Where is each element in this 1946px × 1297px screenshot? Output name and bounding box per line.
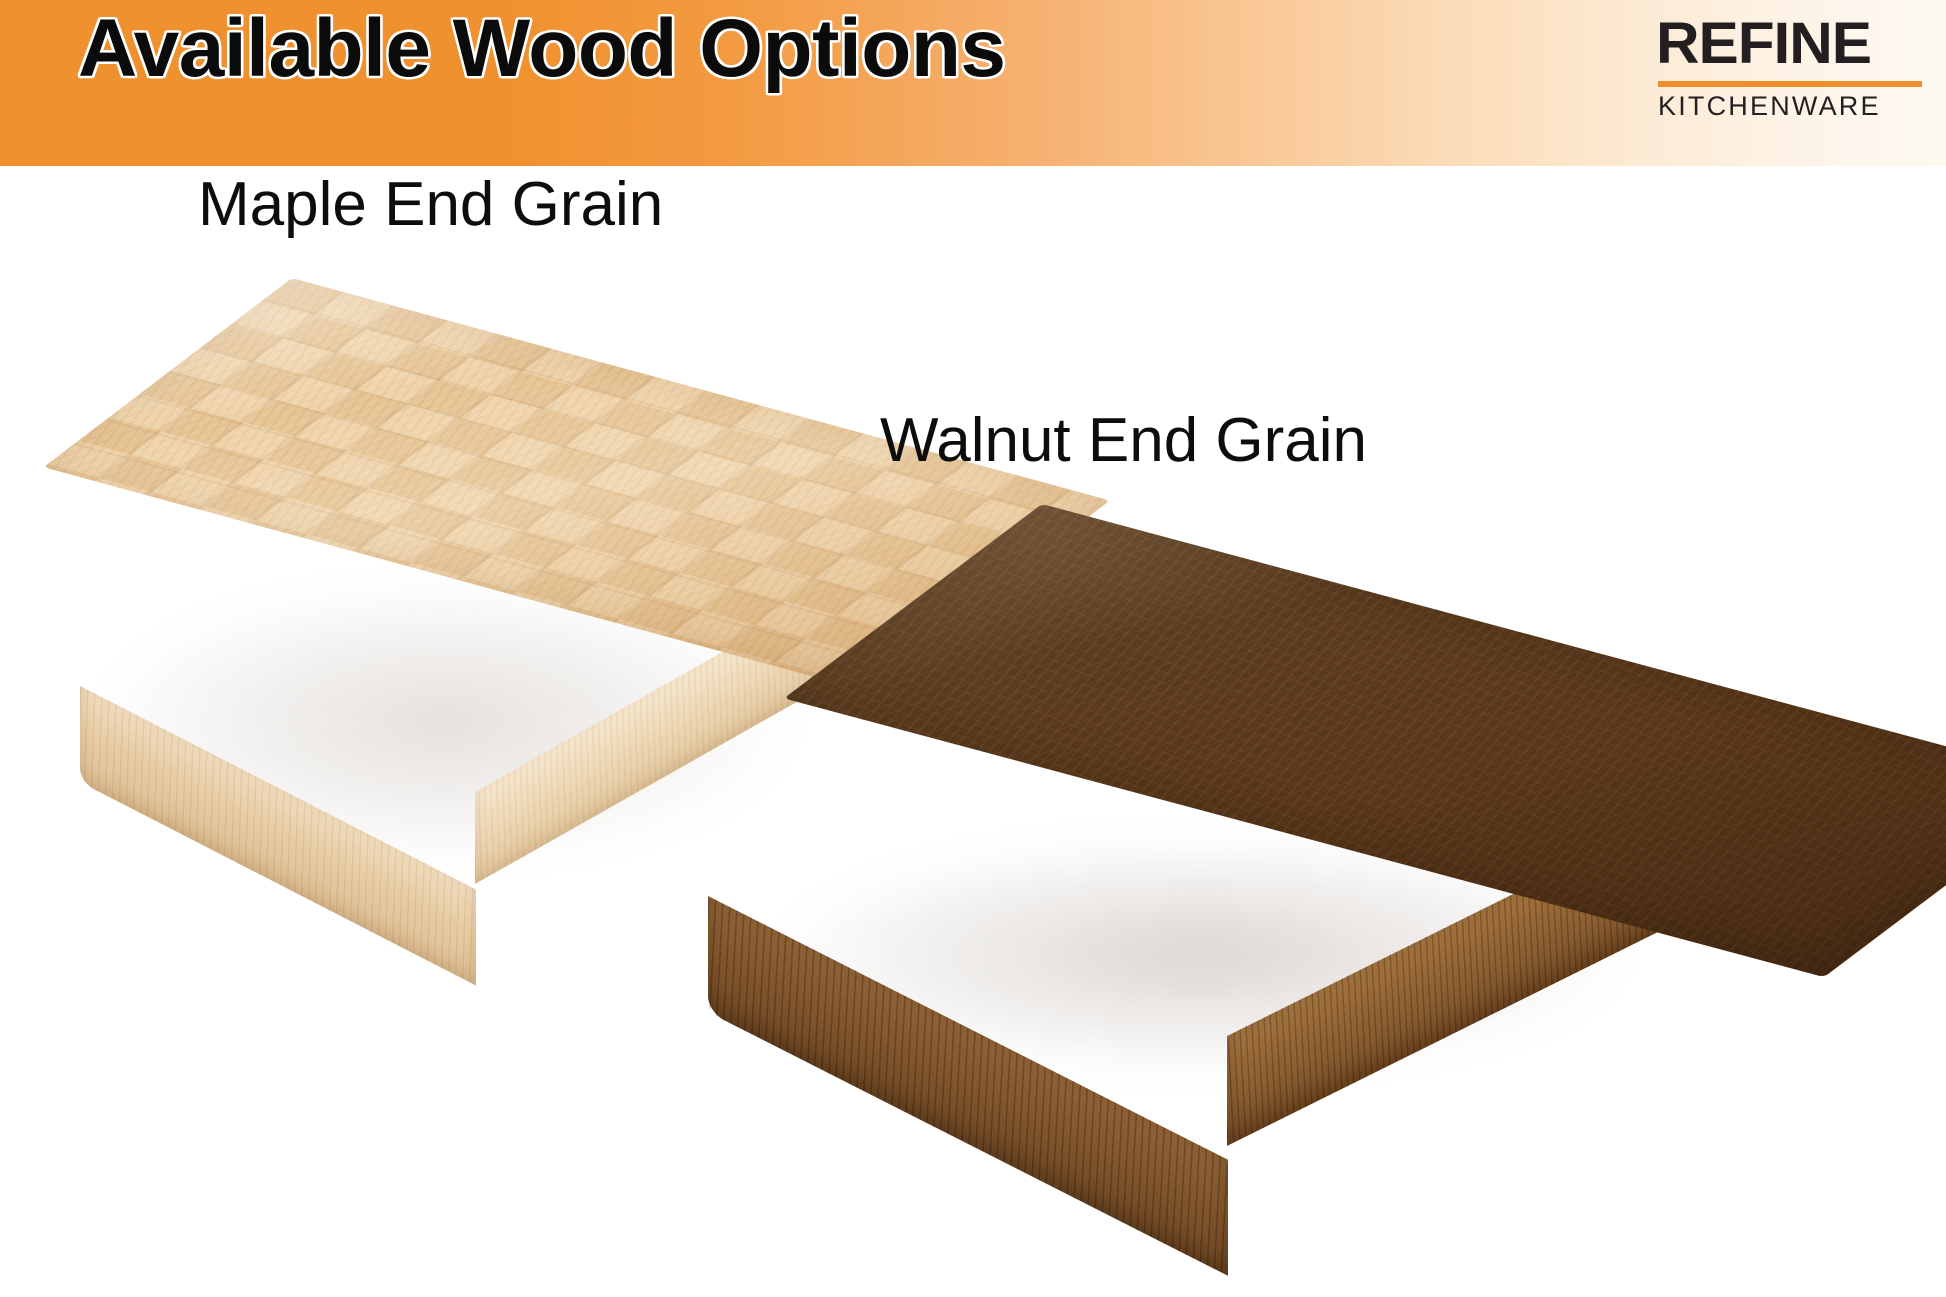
wood-option-label-maple: Maple End Grain bbox=[198, 174, 663, 236]
wood-option-label-walnut: Walnut End Grain bbox=[880, 410, 1367, 472]
brand-logo: REFINE KITCHENWARE bbox=[1656, 16, 1924, 120]
cutting-board-walnut bbox=[690, 500, 1840, 1010]
header-banner: Available Wood Options REFINE KITCHENWAR… bbox=[0, 0, 1946, 166]
brand-divider-rule bbox=[1658, 81, 1922, 87]
page-title: Available Wood Options bbox=[78, 8, 1006, 90]
brand-tagline: KITCHENWARE bbox=[1658, 93, 1924, 120]
brand-name: REFINE bbox=[1656, 16, 1935, 73]
